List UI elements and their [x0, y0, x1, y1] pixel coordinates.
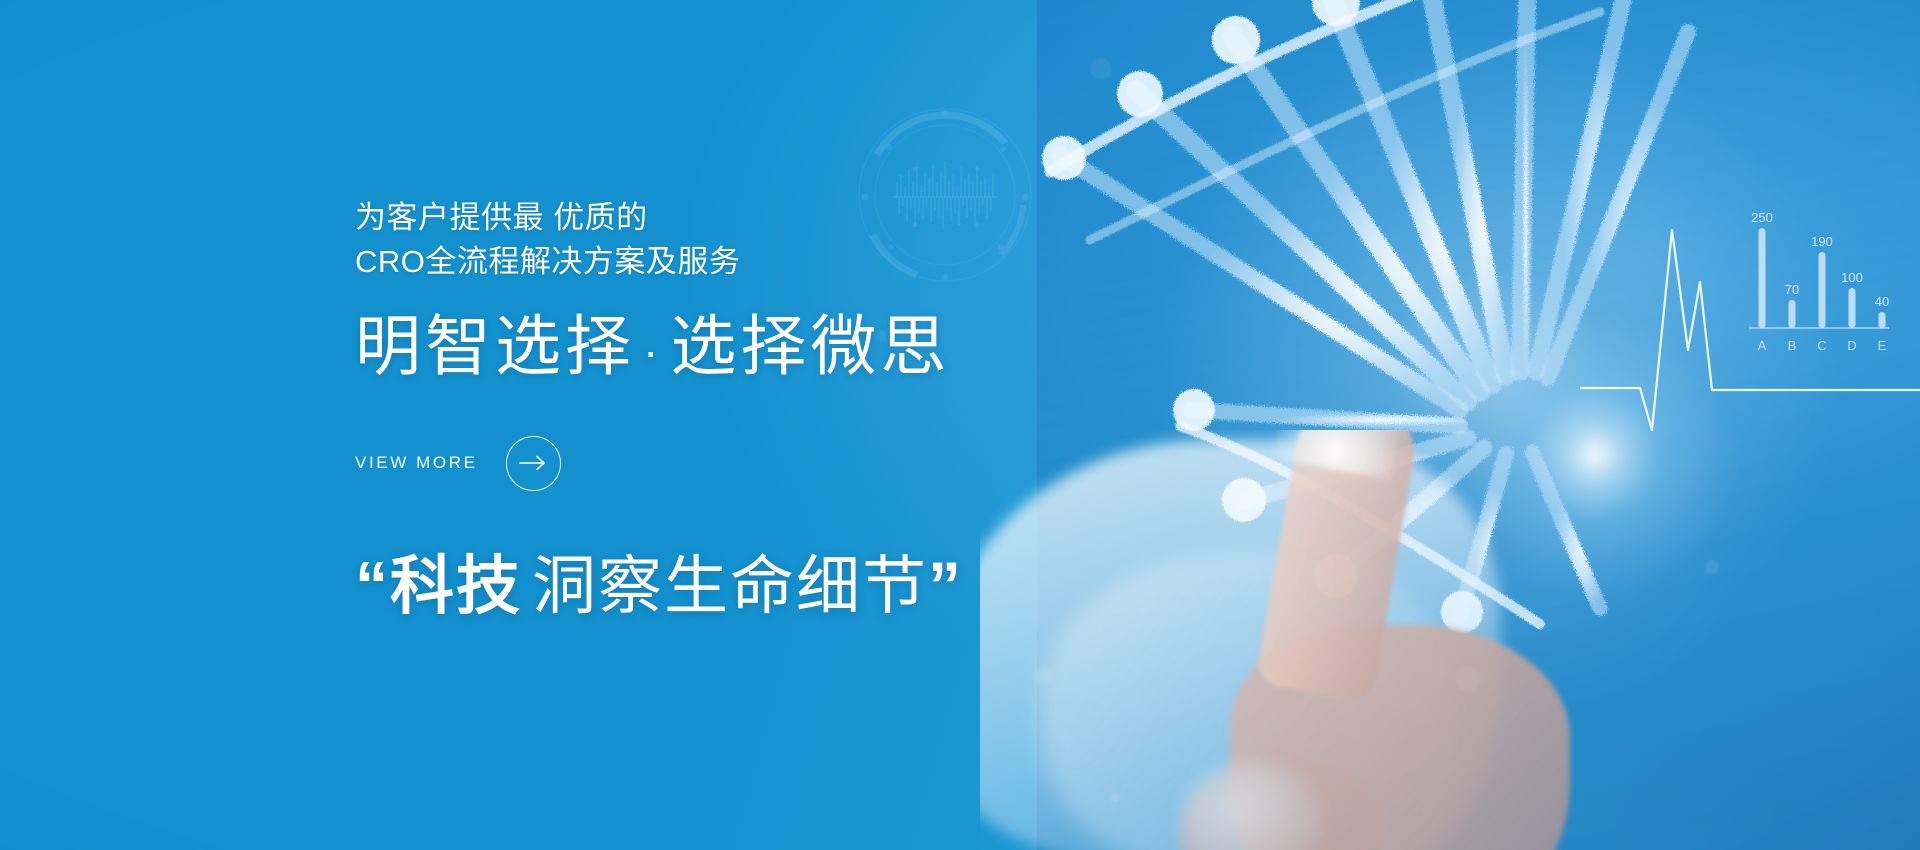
hero-quote: “科技洞察生命细节” — [355, 549, 1255, 622]
hero-content: 为客户提供最 优质的 CRO全流程解决方案及服务 明智选择·选择微思 VIEW … — [355, 196, 1255, 622]
subtitle-line-2: CRO全流程解决方案及服务 — [355, 240, 1255, 284]
headline-separator: · — [635, 325, 670, 377]
quote-open: “ — [355, 548, 390, 622]
view-more-label: VIEW MORE — [355, 453, 478, 473]
subtitle-line-1: 为客户提供最 优质的 — [355, 196, 1255, 240]
arrow-right-icon[interactable] — [506, 436, 561, 491]
page-title: 明智选择·选择微思 — [355, 310, 1255, 384]
hero-banner: 250A70B190C100D40E 为客户提供最 优质的 CRO全流程解决方案… — [0, 0, 1920, 850]
quote-close: ” — [928, 548, 963, 622]
quote-strong: 科技 — [390, 550, 522, 622]
quote-light: 洞察生命细节 — [522, 550, 928, 622]
headline-right: 选择微思 — [670, 309, 950, 383]
view-more-button[interactable]: VIEW MORE — [355, 436, 561, 491]
headline-left: 明智选择 — [355, 309, 635, 383]
